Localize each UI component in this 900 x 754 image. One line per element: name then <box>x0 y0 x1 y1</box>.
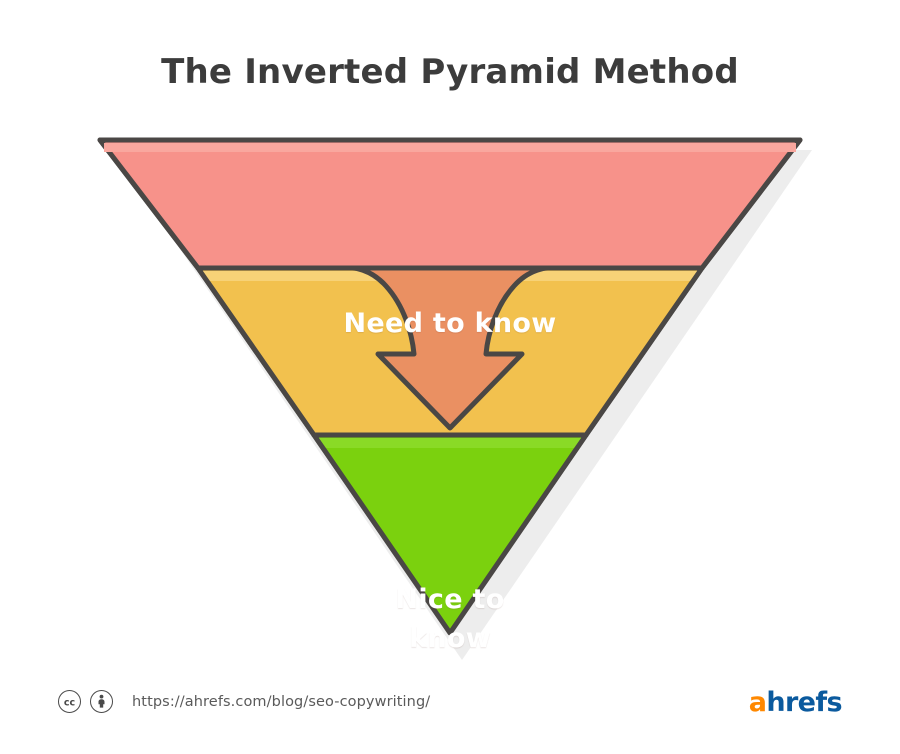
svg-text:cc: cc <box>64 697 75 708</box>
tier-need-to-know <box>100 140 800 268</box>
creative-commons-icon: cc <box>58 690 81 713</box>
ahrefs-logo: ahrefs <box>749 689 842 716</box>
pyramid-svg <box>0 118 900 668</box>
license-block: cc https://ahrefs.com/blog/seo-copywriti… <box>58 690 430 713</box>
inverted-pyramid-diagram: Need to know Nice to know <box>0 118 900 668</box>
infographic-page: The Inverted Pyramid Method <box>0 0 900 754</box>
attribution-by-icon <box>90 690 113 713</box>
footer: cc https://ahrefs.com/blog/seo-copywriti… <box>0 666 900 754</box>
page-title: The Inverted Pyramid Method <box>0 52 900 93</box>
tier1-top-highlight <box>104 143 796 152</box>
tier2-top-highlight <box>319 438 581 448</box>
ahrefs-logo-accent: a <box>749 687 767 718</box>
ahrefs-logo-text: hrefs <box>766 687 842 718</box>
source-url-text: https://ahrefs.com/blog/seo-copywriting/ <box>132 694 430 710</box>
tier1-face <box>100 140 800 268</box>
